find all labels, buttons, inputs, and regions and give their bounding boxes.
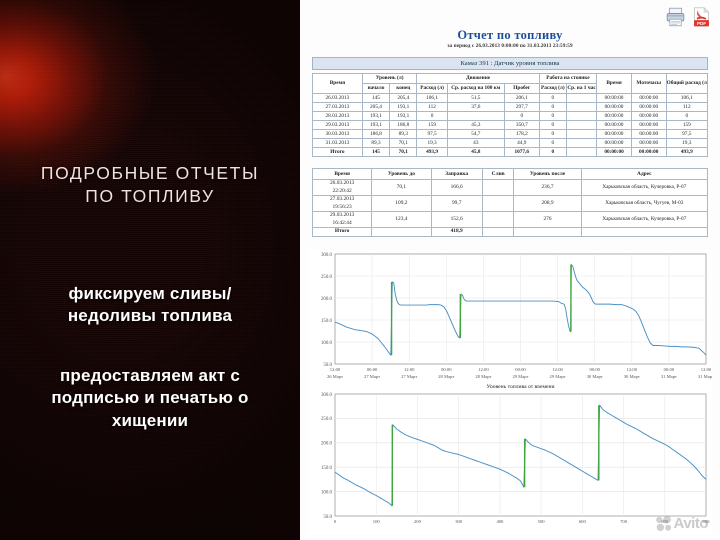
fuel-movement-table: Время Уровень (л) Движение Работа на сто… [312, 73, 708, 157]
promo-panel: ПОДРОБНЫЕ ОТЧЕТЫ ПО ТОПЛИВУ фиксируем сл… [0, 0, 300, 540]
table-cell: 37,6 [447, 103, 504, 112]
table-cell: 19,3 [417, 139, 447, 148]
table-cell: 193,1 [390, 112, 417, 121]
table-cell: 00:00:00 [597, 130, 632, 139]
table-cell: 276 [514, 212, 581, 228]
col-level-after: Уровень после [514, 169, 581, 180]
table-cell: 54,7 [447, 130, 504, 139]
fuel-movement-table-body: 26.03.2013145205,4106,151,5206,1000:00:0… [313, 94, 708, 157]
table-cell: Итого [313, 228, 372, 237]
col-total-consumption: Общий расход (л) [666, 74, 707, 94]
table-cell [566, 103, 596, 112]
y-tick-label: 200.0 [321, 297, 333, 302]
table-cell [566, 121, 596, 130]
table-cell: 0 [504, 112, 539, 121]
table-cell: 70,1 [390, 148, 417, 157]
col-address: Адрес [581, 169, 707, 180]
x-tick-date: 28 Март [475, 374, 491, 379]
table-cell: 00:00:00 [631, 103, 666, 112]
table-cell: 89,3 [362, 139, 389, 148]
table-cell: 205,4 [390, 94, 417, 103]
table-cell: 186,8 [362, 130, 389, 139]
x-tick-label: 500 [538, 519, 546, 524]
table-cell: 208,9 [514, 196, 581, 212]
table-cell: 0 [539, 121, 566, 130]
table-cell: 236,7 [514, 180, 581, 196]
table-cell: 97,5 [417, 130, 447, 139]
x-tick-date: 29 Март [512, 374, 528, 379]
x-tick-label: 300 [455, 519, 463, 524]
table-cell: 00:00:00 [597, 103, 632, 112]
table-cell: 29.03.2013 [313, 121, 363, 130]
table-cell: 27.03.201319:56:23 [313, 196, 372, 212]
x-tick-date: 30 Март [587, 374, 603, 379]
table-row: 26.03.2013145205,4106,151,5206,1000:00:0… [313, 94, 708, 103]
table-cell: 123,4 [372, 212, 431, 228]
table-cell: 193,1 [390, 103, 417, 112]
table-cell: 26.03.2013 [313, 94, 363, 103]
col-refuel-time: Время [313, 169, 372, 180]
group-movement: Движение [417, 74, 539, 84]
table-cell: 152,6 [431, 212, 482, 228]
svg-text:PDF: PDF [697, 21, 706, 26]
table-cell: 00:00:00 [631, 112, 666, 121]
x-tick-label: 800 [661, 519, 669, 524]
y-tick-label: 200.0 [321, 442, 333, 447]
table-row: 29.03.201316:42:44123,4152,6276Харьковск… [313, 212, 708, 228]
table-cell: 0 [666, 112, 707, 121]
table-cell: 29.03.201316:42:44 [313, 212, 372, 228]
x-tick-time: 12:00 [701, 367, 712, 372]
table-cell [566, 148, 596, 157]
col-refuel-amount: Заправка [431, 169, 482, 180]
table-cell: 44,9 [504, 139, 539, 148]
table-cell: 89,3 [390, 130, 417, 139]
table-cell [581, 228, 707, 237]
promo-bullet-2-line1: предоставляем акт с [0, 365, 300, 387]
col-idle-consumption: Расход (л) [539, 84, 566, 94]
table-cell [372, 228, 431, 237]
table-cell [566, 112, 596, 121]
fuel-level-index-chart: 010020030040050060070080090050.0100.0150… [308, 388, 712, 534]
y-tick-label: 50.0 [323, 363, 332, 368]
group-level: Уровень (л) [362, 74, 417, 84]
table-cell: 205,4 [362, 103, 389, 112]
table-cell: 493,9 [417, 148, 447, 157]
table-cell [566, 94, 596, 103]
table-cell: 112 [666, 103, 707, 112]
table-cell: 186,8 [390, 121, 417, 130]
table-cell: 45,3 [447, 121, 504, 130]
col-level-end: конец [390, 84, 417, 94]
table-cell: 178,2 [504, 130, 539, 139]
table-cell: 00:00:00 [597, 139, 632, 148]
y-tick-label: 150.0 [321, 466, 333, 471]
table-cell: 28.03.2013 [313, 112, 363, 121]
table-cell: 206,1 [504, 94, 539, 103]
x-tick-date: 31 Март [661, 374, 677, 379]
col-drain-amount: Слив [482, 169, 514, 180]
pdf-icon[interactable]: PDF [691, 6, 712, 28]
table-cell: 106,1 [666, 94, 707, 103]
x-tick-time: 12:00 [478, 367, 489, 372]
col-move-consumption: Расход (л) [417, 84, 447, 94]
table-total-row: Итого14570,1493,945,81077,6000:00:0000:0… [313, 148, 708, 157]
table-cell: 159 [666, 121, 707, 130]
table-cell: 00:00:00 [631, 148, 666, 157]
report-period: за период с 26.03.2013 0:00:00 по 31.03.… [300, 43, 720, 49]
table-cell: 26.03.201322:20:42 [313, 180, 372, 196]
table-cell: 0 [539, 103, 566, 112]
fuel-level-time-chart: 12:0026 Март00:0027 Март12:0027 Март00:0… [308, 250, 712, 390]
table-row: 31.03.201389,370,119,34344,9000:00:0000:… [313, 139, 708, 148]
y-tick-label: 300.0 [321, 253, 333, 258]
x-tick-time: 00:00 [664, 367, 675, 372]
promo-bullet-1-line1: фиксируем сливы/ [0, 283, 300, 305]
x-tick-date: 27 Март [401, 374, 417, 379]
table-cell: 0 [539, 112, 566, 121]
table-row: 27.03.201319:56:23109,299,7208,9Харьковс… [313, 196, 708, 212]
x-tick-label: 700 [620, 519, 628, 524]
report-toolbar: PDF [665, 6, 712, 28]
address-cell: Харьковская область, Кучеровка, Р-07 [581, 180, 707, 196]
promo-bullet-1-line2: недоливы топлива [0, 305, 300, 327]
x-tick-date: 28 Март [438, 374, 454, 379]
table-cell: 0 [539, 148, 566, 157]
promo-bullet-2: предоставляем акт с подписью и печатью о… [0, 365, 300, 432]
promo-headline-line1: ПОДРОБНЫЕ ОТЧЕТЫ [0, 162, 300, 185]
table-cell: 145 [362, 148, 389, 157]
table-row: 29.03.2013193,1186,815945,3350,7000:00:0… [313, 121, 708, 130]
table-total-row: Итого418,9 [313, 228, 708, 237]
table-cell: 27.03.2013 [313, 103, 363, 112]
table-cell [482, 196, 514, 212]
table-row: 27.03.2013205,4193,111237,6297,7000:00:0… [313, 103, 708, 112]
table-cell: 31.03.2013 [313, 139, 363, 148]
x-tick-time: 12:00 [627, 367, 638, 372]
x-tick-time: 00:00 [589, 367, 600, 372]
x-tick-date: 27 Март [364, 374, 380, 379]
col-avg-per-100km: Ср. расход на 100 км [447, 84, 504, 94]
y-tick-label: 250.0 [321, 417, 333, 422]
group-header-row: Время Уровень (л) Движение Работа на сто… [313, 74, 708, 84]
group-idle: Работа на стоянке [539, 74, 597, 84]
table-cell: 00:00:00 [631, 94, 666, 103]
col-time: Время [313, 74, 363, 94]
table-cell: 297,7 [504, 103, 539, 112]
report-panel: PDF Отчет по топливу за период с 26.03.2… [300, 0, 720, 540]
table-cell: 97,5 [666, 130, 707, 139]
x-tick-label: 100 [373, 519, 381, 524]
table-cell: 418,9 [431, 228, 482, 237]
table-row: 26.03.201322:20:4270,1166,6236,7Харьковс… [313, 180, 708, 196]
x-tick-label: 600 [579, 519, 587, 524]
table-cell: 193,1 [362, 121, 389, 130]
report-scroll-area: PDF Отчет по топливу за период с 26.03.2… [300, 0, 720, 540]
x-tick-date: 29 Март [550, 374, 566, 379]
table-cell [482, 228, 514, 237]
table-row: 28.03.2013193,1193,100000:00:0000:00:000 [313, 112, 708, 121]
y-tick-label: 100.0 [321, 341, 333, 346]
x-tick-label: 400 [496, 519, 504, 524]
table-cell: 00:00:00 [597, 112, 632, 121]
table-cell: 00:00:00 [631, 139, 666, 148]
x-tick-time: 00:00 [515, 367, 526, 372]
table-cell: 45,8 [447, 148, 504, 157]
refuel-header-row: Время Уровень до Заправка Слив Уровень п… [313, 169, 708, 180]
table-cell: 112 [417, 103, 447, 112]
promo-headline-line2: ПО ТОПЛИВУ [0, 185, 300, 208]
x-tick-time: 12:00 [552, 367, 563, 372]
table-cell: 166,6 [431, 180, 482, 196]
y-tick-label: 300.0 [321, 393, 333, 398]
x-tick-label: 0 [334, 519, 337, 524]
table-cell: 350,7 [504, 121, 539, 130]
table-cell [514, 228, 581, 237]
table-cell [482, 180, 514, 196]
x-tick-time: 00:00 [367, 367, 378, 372]
printer-icon[interactable] [665, 6, 686, 28]
table-cell: 00:00:00 [631, 121, 666, 130]
promo-bullet-2-line2: подписью и печатью о [0, 387, 300, 409]
table-cell: 145 [362, 94, 389, 103]
report-object-bar: Камаз 391 : Датчик уровня топлива [312, 57, 708, 70]
col-idle-time: Время [597, 74, 632, 94]
table-cell: 109,2 [372, 196, 431, 212]
x-tick-label: 200 [414, 519, 422, 524]
promo-bullet-1: фиксируем сливы/ недоливы топлива [0, 283, 300, 328]
chart2-svg: 010020030040050060070080090050.0100.0150… [308, 388, 712, 534]
x-tick-date: 31 Март [698, 374, 712, 379]
table-cell: 00:00:00 [631, 130, 666, 139]
table-cell: 159 [417, 121, 447, 130]
table-cell: 00:00:00 [597, 148, 632, 157]
table-cell: 0 [539, 130, 566, 139]
chart1-svg: 12:0026 Март00:0027 Март12:0027 Март00:0… [308, 250, 712, 390]
fuel-movement-table-head: Время Уровень (л) Движение Работа на сто… [313, 74, 708, 94]
col-mileage: Пробег [504, 84, 539, 94]
table-cell: 0 [539, 139, 566, 148]
table-cell [447, 112, 504, 121]
table-cell: 00:00:00 [597, 94, 632, 103]
table-cell: Итого [313, 148, 363, 157]
address-cell: Харьковская область, Чугуев, М-03 [581, 196, 707, 212]
table-cell [566, 139, 596, 148]
table-cell: 193,1 [362, 112, 389, 121]
col-avg-per-hour: Ср. на 1 час [566, 84, 596, 94]
y-tick-label: 100.0 [321, 490, 333, 495]
table-cell: 99,7 [431, 196, 482, 212]
table-cell: 70,1 [372, 180, 431, 196]
x-tick-label: 900 [703, 519, 711, 524]
table-cell [482, 212, 514, 228]
table-cell: 70,1 [390, 139, 417, 148]
refuel-table-head: Время Уровень до Заправка Слив Уровень п… [313, 169, 708, 180]
address-cell: Харьковская область, Кучеровка, Р-07 [581, 212, 707, 228]
x-tick-time: 12:00 [404, 367, 415, 372]
table-cell [566, 130, 596, 139]
promo-headline: ПОДРОБНЫЕ ОТЧЕТЫ ПО ТОПЛИВУ [0, 162, 300, 209]
table-cell: 493,9 [666, 148, 707, 157]
table-cell: 19,3 [666, 139, 707, 148]
table-cell: 0 [417, 112, 447, 121]
col-level-start: начало [362, 84, 389, 94]
promo-bullet-2-line3: хищении [0, 410, 300, 432]
screenshot-root: ПОДРОБНЫЕ ОТЧЕТЫ ПО ТОПЛИВУ фиксируем сл… [0, 0, 720, 540]
y-tick-label: 50.0 [323, 515, 332, 520]
refuel-events-table: Время Уровень до Заправка Слив Уровень п… [312, 168, 708, 237]
table-cell: 51,5 [447, 94, 504, 103]
col-engine-hours: Моточасы [631, 74, 666, 94]
table-cell: 00:00:00 [597, 121, 632, 130]
table-cell: 30.03.2013 [313, 130, 363, 139]
table-cell: 0 [539, 94, 566, 103]
table-cell: 1077,6 [504, 148, 539, 157]
x-tick-time: 00:00 [441, 367, 452, 372]
x-tick-date: 26 Март [327, 374, 343, 379]
table-cell: 43 [447, 139, 504, 148]
table-row: 30.03.2013186,889,397,554,7178,2000:00:0… [313, 130, 708, 139]
y-tick-label: 250.0 [321, 275, 333, 280]
refuel-table-body: 26.03.201322:20:4270,1166,6236,7Харьковс… [313, 180, 708, 237]
x-tick-date: 30 Март [624, 374, 640, 379]
col-level-before: Уровень до [372, 169, 431, 180]
table-cell: 106,1 [417, 94, 447, 103]
y-tick-label: 150.0 [321, 319, 333, 324]
report-title: Отчет по топливу [300, 28, 720, 43]
